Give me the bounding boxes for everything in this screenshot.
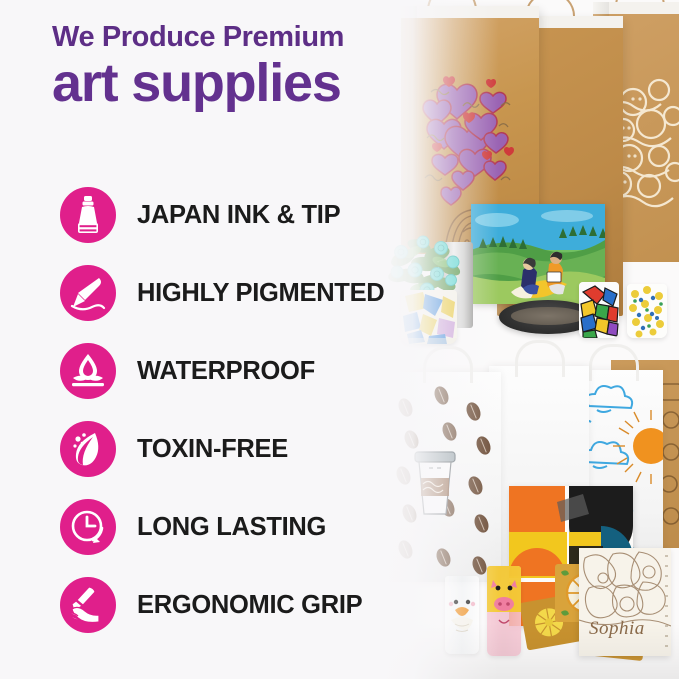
feature-item-japan-ink-tip: JAPAN INK & TIP [60,176,440,254]
headline-line-2: art supplies [52,56,442,110]
feature-item-highly-pigmented: HIGHLY PIGMENTED [60,254,440,332]
feature-label: JAPAN INK & TIP [137,201,340,230]
feature-item-waterproof: WATERPROOF [60,332,440,410]
feature-list: JAPAN INK & TIP HIGHLY PIGMENTED [60,176,440,644]
feature-label: TOXIN-FREE [137,435,288,464]
headline-block: We Produce Premium art supplies [52,22,442,110]
chisel-tip-stroke-icon [60,265,116,321]
water-drop-icon [60,343,116,399]
painted-glass-jar-yellow-pattern [627,284,667,338]
leaf-bubbles-icon [60,421,116,477]
feature-label: HIGHLY PIGMENTED [137,279,384,308]
hand-holding-pen-icon [60,577,116,633]
clock-arrow-icon [60,499,116,555]
feature-item-toxin-free: TOXIN-FREE [60,410,440,488]
feature-label: WATERPROOF [137,357,315,386]
painted-glass-jar-stained-glass [579,282,619,338]
feature-label: LONG LASTING [137,513,326,542]
headline-line-1: We Produce Premium [52,22,442,52]
marker-pen-icon [60,187,116,243]
poster-canvas: Sophia We Produce Premium art supplies [0,0,679,679]
feature-item-long-lasting: LONG LASTING [60,488,440,566]
text-panel: We Produce Premium art supplies [0,0,440,679]
feature-label: ERGONOMIC GRIP [137,591,362,620]
feature-item-ergonomic-grip: ERGONOMIC GRIP [60,566,440,644]
